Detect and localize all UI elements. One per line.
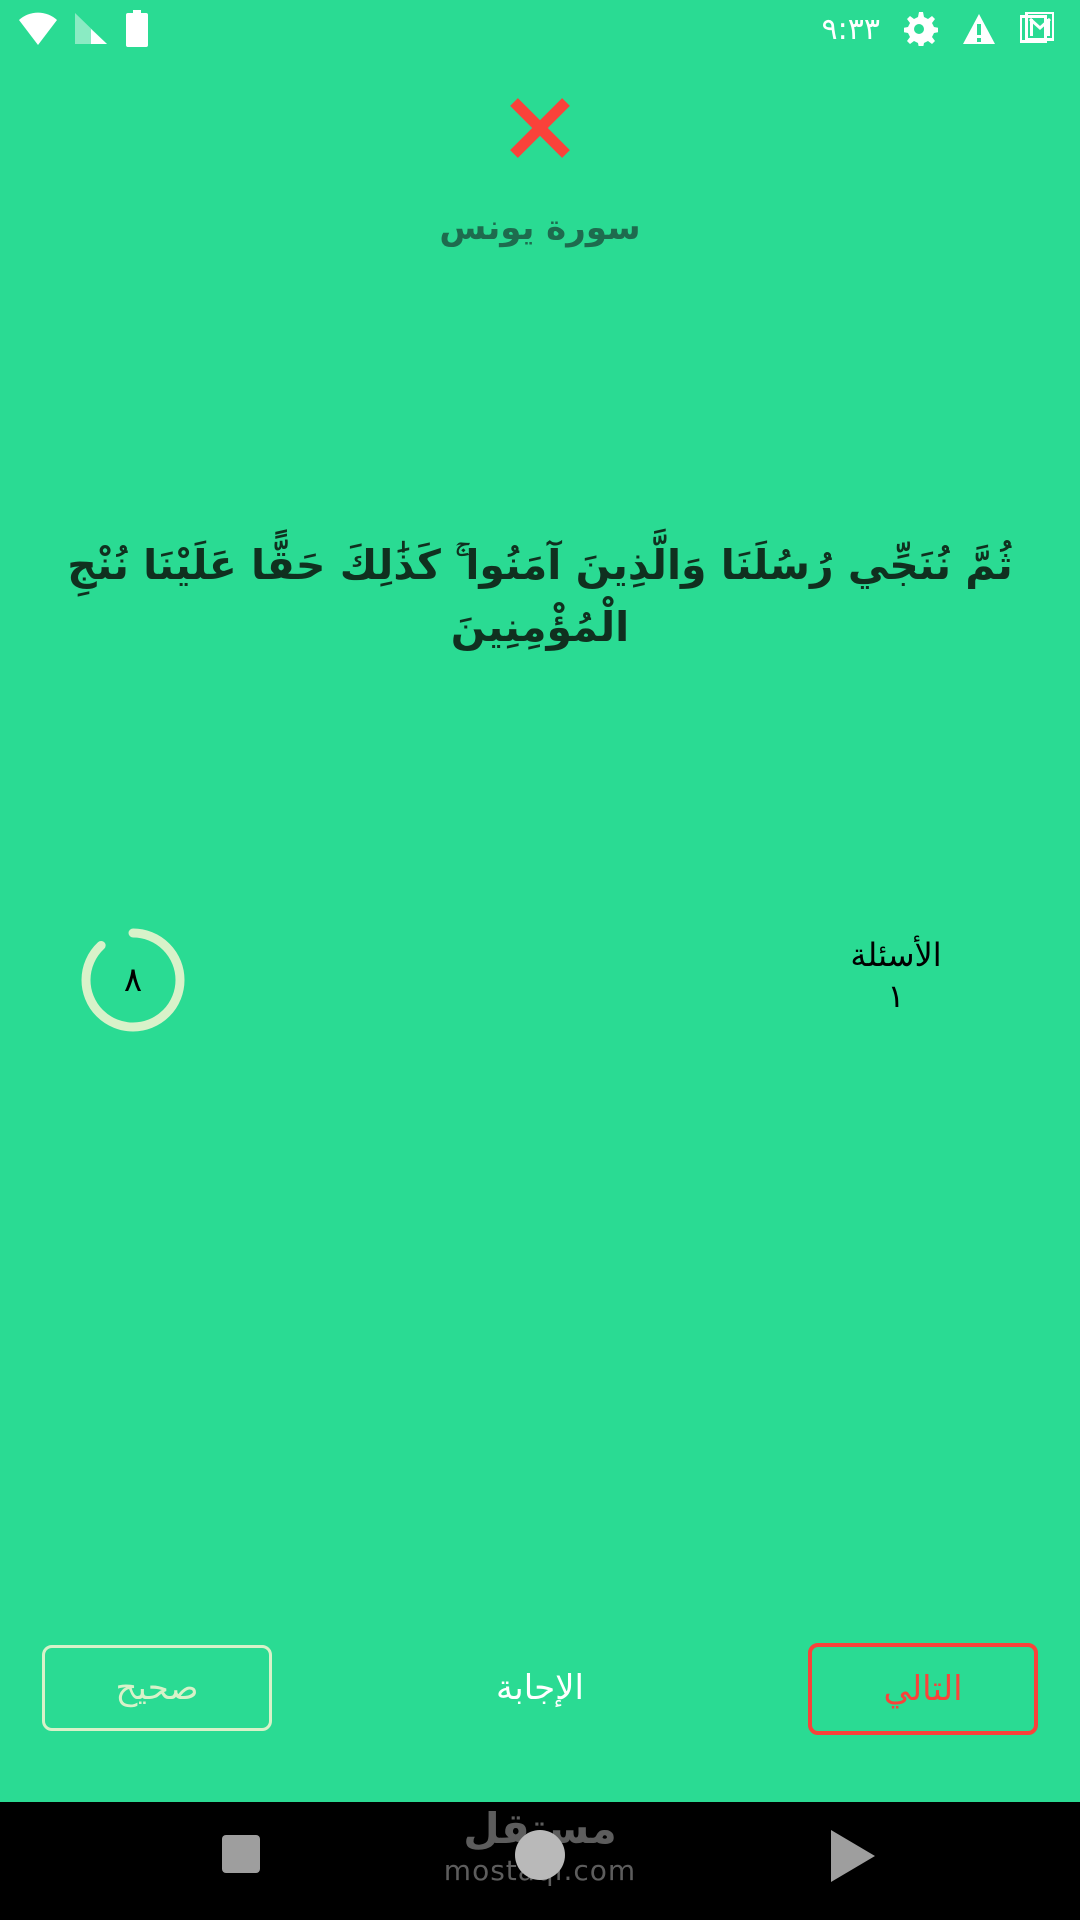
close-icon [508,96,572,160]
android-nav-bar: مستقل mostaql.com [0,1802,1080,1920]
nav-recents-button[interactable] [222,1835,260,1873]
answer-button[interactable]: الإجابة [425,1645,655,1731]
question-counter: الأسئلة ١ [786,935,1006,1018]
next-button[interactable]: التالي [808,1643,1038,1735]
wifi-icon [18,12,58,50]
status-bar-left-icons [18,0,150,62]
correct-button[interactable]: صحيح [42,1645,272,1731]
signal-icon [72,11,110,51]
surah-title: سورة يونس [0,208,1080,248]
timer-ring: ٨ [78,925,188,1035]
app-screen: ٩:٣٣ سورة يونس ثُمَّ نُنَجِّي رُسُلَنَا … [0,0,1080,1920]
ayah-text: ثُمَّ نُنَجِّي رُسُلَنَا وَالَّذِينَ آمَ… [0,535,1080,658]
question-counter-number: ١ [786,975,1006,1018]
timer-value: ٨ [78,925,188,1035]
nav-back-button[interactable] [831,1830,875,1882]
close-button[interactable] [508,96,572,160]
gmail-icon [1020,12,1054,50]
status-bar-clock: ٩:٣٣ [822,15,880,47]
warning-icon [962,13,996,49]
question-counter-label: الأسئلة [786,935,1006,975]
status-bar: ٩:٣٣ [0,0,1080,62]
nav-home-button[interactable] [515,1830,565,1880]
gear-icon [904,12,938,50]
battery-icon [124,10,150,52]
status-bar-right-icons: ٩:٣٣ [822,0,1054,62]
action-bar: صحيح الإجابة التالي [0,1645,1080,1755]
